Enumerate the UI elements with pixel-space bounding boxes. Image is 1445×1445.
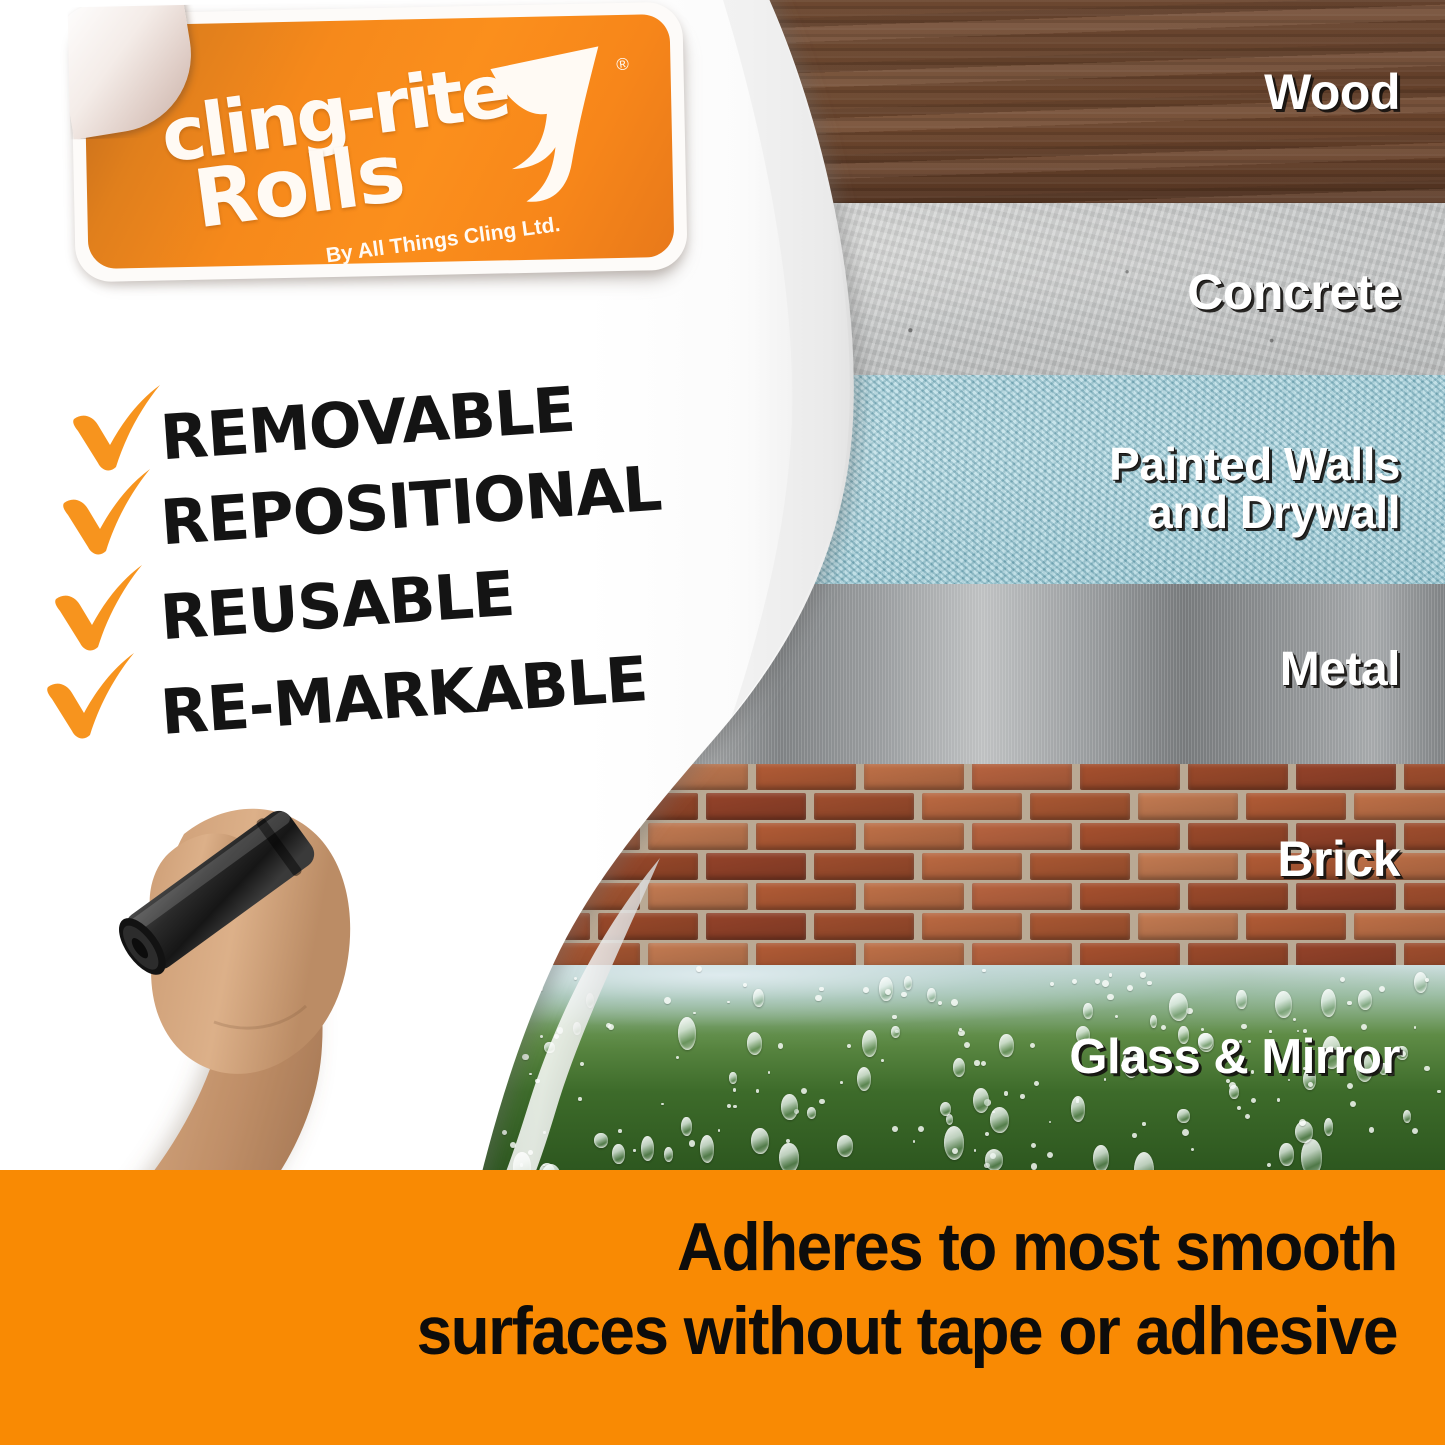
bottom-banner: Adheres to most smooth surfaces without … [0, 1170, 1445, 1445]
water-droplet [1004, 1091, 1008, 1095]
water-droplet [1369, 1127, 1375, 1133]
feature-label: RE-MARKABLE [158, 642, 649, 749]
brick-unit [1354, 913, 1445, 940]
water-droplet [985, 1149, 1003, 1170]
water-droplet [981, 1061, 986, 1066]
water-droplet [1414, 972, 1427, 993]
water-droplet [1279, 1143, 1294, 1167]
water-droplet [951, 999, 958, 1006]
water-droplet [1412, 1128, 1418, 1134]
water-droplet [1414, 1026, 1417, 1029]
water-droplet [1083, 1003, 1093, 1019]
water-droplet [1047, 1152, 1053, 1158]
brick-unit [1080, 823, 1180, 850]
brick-unit [1188, 823, 1288, 850]
water-droplet [1379, 986, 1386, 993]
brick-unit [1404, 943, 1445, 965]
surface-label-painted-wall-line1: Painted Walls [1109, 440, 1400, 488]
brick-unit [1296, 764, 1396, 790]
water-droplet [1403, 1110, 1411, 1122]
water-droplet [1324, 1118, 1334, 1136]
water-droplet [1191, 1148, 1194, 1151]
water-droplet [1347, 1001, 1351, 1005]
peeling-sheet-icon [481, 38, 641, 215]
brick-unit [1080, 764, 1180, 790]
water-droplet [999, 1034, 1013, 1057]
water-droplet [940, 1102, 951, 1116]
brick-unit [922, 793, 1022, 820]
water-droplet [1358, 990, 1372, 1010]
water-droplet [892, 1015, 897, 1020]
water-droplet [892, 1126, 898, 1132]
water-droplet [1425, 978, 1429, 982]
brick-unit [1296, 883, 1396, 910]
water-droplet [1132, 1133, 1137, 1138]
banner-line-1: Adheres to most smooth [677, 1208, 1397, 1286]
brick-unit [972, 883, 1072, 910]
brand-logo-sticker: cling-rite ® Rolls By All Things Cling L… [73, 8, 698, 293]
water-droplet [1071, 1096, 1086, 1122]
surface-label-painted-wall: Painted Walls and Drywall [1109, 440, 1400, 537]
water-droplet [938, 1001, 943, 1006]
water-droplet [1400, 1051, 1406, 1057]
water-droplet [1350, 1101, 1356, 1107]
brick-unit [972, 943, 1072, 965]
water-droplet [964, 1042, 970, 1048]
surface-label-metal: Metal [1280, 645, 1400, 695]
water-droplet [1050, 982, 1054, 986]
brick-unit [1138, 793, 1238, 820]
brick-unit [1030, 793, 1130, 820]
water-droplet [1107, 994, 1113, 1000]
surface-label-painted-wall-line2: and Drywall [1109, 488, 1400, 536]
water-droplet [1072, 979, 1077, 984]
water-droplet [1293, 1018, 1297, 1022]
surface-label-concrete: Concrete [1187, 266, 1400, 319]
water-droplet [1115, 1015, 1118, 1018]
water-droplet [974, 1060, 979, 1065]
water-droplet [1277, 1098, 1281, 1102]
water-droplet [1142, 1122, 1145, 1125]
surface-label-wood: Wood [1264, 66, 1400, 119]
water-droplet [1347, 1083, 1353, 1089]
water-droplet [1127, 985, 1133, 991]
brick-unit [1188, 883, 1288, 910]
water-droplet [1034, 1081, 1039, 1086]
feature-checklist: REMOVABLE REPOSITIONAL REUSABLE [60, 383, 800, 773]
water-droplet [1177, 1109, 1190, 1124]
water-droplet [1049, 1121, 1052, 1124]
water-droplet [1031, 1143, 1036, 1148]
orange-checkmark-icon [58, 467, 154, 559]
water-droplet [881, 1059, 884, 1062]
water-droplet [1102, 980, 1109, 987]
water-droplet [1321, 989, 1336, 1018]
water-droplet [974, 1149, 976, 1151]
brick-unit [1296, 943, 1396, 965]
water-droplet [1095, 979, 1100, 984]
water-droplet [1140, 972, 1146, 978]
water-droplet [1424, 1066, 1429, 1071]
water-droplet [1182, 1129, 1189, 1136]
brick-unit [1138, 913, 1238, 940]
brick-unit [1030, 913, 1130, 940]
brick-unit [1404, 823, 1445, 850]
orange-checkmark-icon [50, 563, 146, 655]
orange-checkmark-icon [68, 383, 164, 475]
water-droplet [1030, 1043, 1035, 1048]
brick-unit [972, 764, 1072, 790]
water-droplet [959, 1028, 962, 1031]
surface-label-brick: Brick [1277, 833, 1400, 886]
water-droplet [952, 1148, 958, 1154]
water-droplet [1134, 1152, 1154, 1170]
water-droplet [1251, 1098, 1256, 1103]
water-droplet [973, 1088, 989, 1113]
water-droplet [1150, 1015, 1157, 1028]
brick-unit [1080, 883, 1180, 910]
brick-unit [1080, 943, 1180, 965]
water-droplet [1267, 1163, 1271, 1167]
water-droplet [901, 992, 907, 998]
water-droplet [1020, 1094, 1025, 1099]
brick-unit [922, 913, 1022, 940]
brick-unit [1404, 883, 1445, 910]
water-droplet [1031, 1163, 1038, 1170]
brick-unit [1354, 793, 1445, 820]
water-droplet [918, 1126, 924, 1132]
water-droplet [891, 1026, 900, 1037]
banner-line-2: surfaces without tape or adhesive [417, 1292, 1397, 1370]
water-droplet [1340, 977, 1346, 983]
brick-unit [1138, 853, 1238, 880]
water-droplet [904, 976, 912, 989]
water-droplet [985, 1132, 989, 1136]
water-droplet [1169, 993, 1188, 1021]
brick-unit [1188, 943, 1288, 965]
water-droplet [1147, 981, 1152, 986]
water-droplet [1275, 991, 1292, 1018]
brick-unit [972, 823, 1072, 850]
brick-unit [1246, 913, 1346, 940]
water-droplet [953, 1058, 966, 1077]
orange-checkmark-icon [42, 651, 138, 743]
water-droplet [913, 1140, 916, 1143]
water-droplet [1237, 1106, 1241, 1110]
water-droplet [1236, 990, 1246, 1009]
product-feature-graphic: Wood Concrete Painted Walls and Drywall … [0, 0, 1445, 1445]
surface-label-glass-mirror: Glass & Mirror [1069, 1032, 1400, 1083]
brick-unit [1404, 764, 1445, 790]
water-droplet [1301, 1139, 1322, 1170]
water-droplet [982, 969, 985, 972]
water-droplet [1437, 1090, 1440, 1093]
water-droplet [1229, 1085, 1239, 1099]
feature-label: REMOVABLE [158, 373, 577, 475]
water-droplet [1109, 973, 1112, 976]
water-droplet [990, 1107, 1009, 1133]
brick-unit [1246, 793, 1346, 820]
water-droplet [944, 1126, 964, 1160]
feature-label: REUSABLE [158, 557, 516, 655]
brick-unit [1030, 853, 1130, 880]
water-droplet [927, 988, 936, 1002]
water-droplet [1093, 1145, 1109, 1170]
brick-unit [1188, 764, 1288, 790]
water-droplet [1245, 1114, 1250, 1119]
water-droplet [1241, 1024, 1247, 1030]
brick-unit [922, 853, 1022, 880]
